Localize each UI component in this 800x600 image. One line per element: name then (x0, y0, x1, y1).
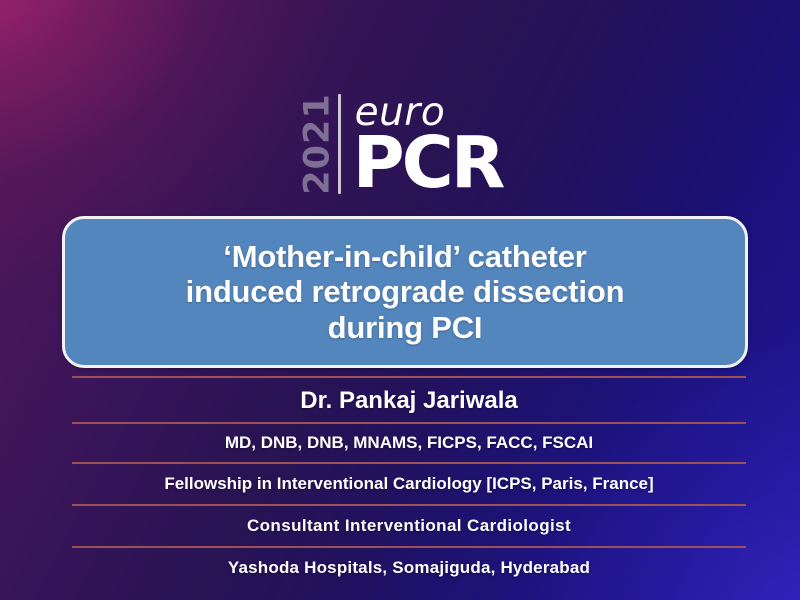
europcr-logo: 2021 euro PCR (0, 92, 800, 196)
logo-year: 2021 (298, 92, 338, 196)
logo-year-label: 2021 (298, 93, 338, 194)
logo-wordmark: euro PCR (353, 92, 503, 196)
presenter-fellowship: Fellowship in Interventional Cardiology … (72, 464, 746, 504)
presenter-details: Dr. Pankaj Jariwala MD, DNB, DNB, MNAMS,… (72, 376, 746, 588)
logo-divider-line (338, 94, 341, 194)
presenter-hospital: Yashoda Hospitals, Somajiguda, Hyderabad (72, 548, 746, 588)
presenter-name: Dr. Pankaj Jariwala (72, 378, 746, 422)
title-box: ‘Mother-in-child’ catheter induced retro… (62, 216, 748, 368)
logo-inner: 2021 euro PCR (298, 92, 503, 196)
presenter-degrees: MD, DNB, DNB, MNAMS, FICPS, FACC, FSCAI (72, 424, 746, 462)
logo-pcr-text: PCR (353, 132, 503, 193)
presenter-role: Consultant Interventional Cardiologist (72, 506, 746, 546)
slide-title: ‘Mother-in-child’ catheter induced retro… (170, 239, 641, 345)
presentation-slide: 2021 euro PCR ‘Mother-in-child’ catheter… (0, 0, 800, 600)
